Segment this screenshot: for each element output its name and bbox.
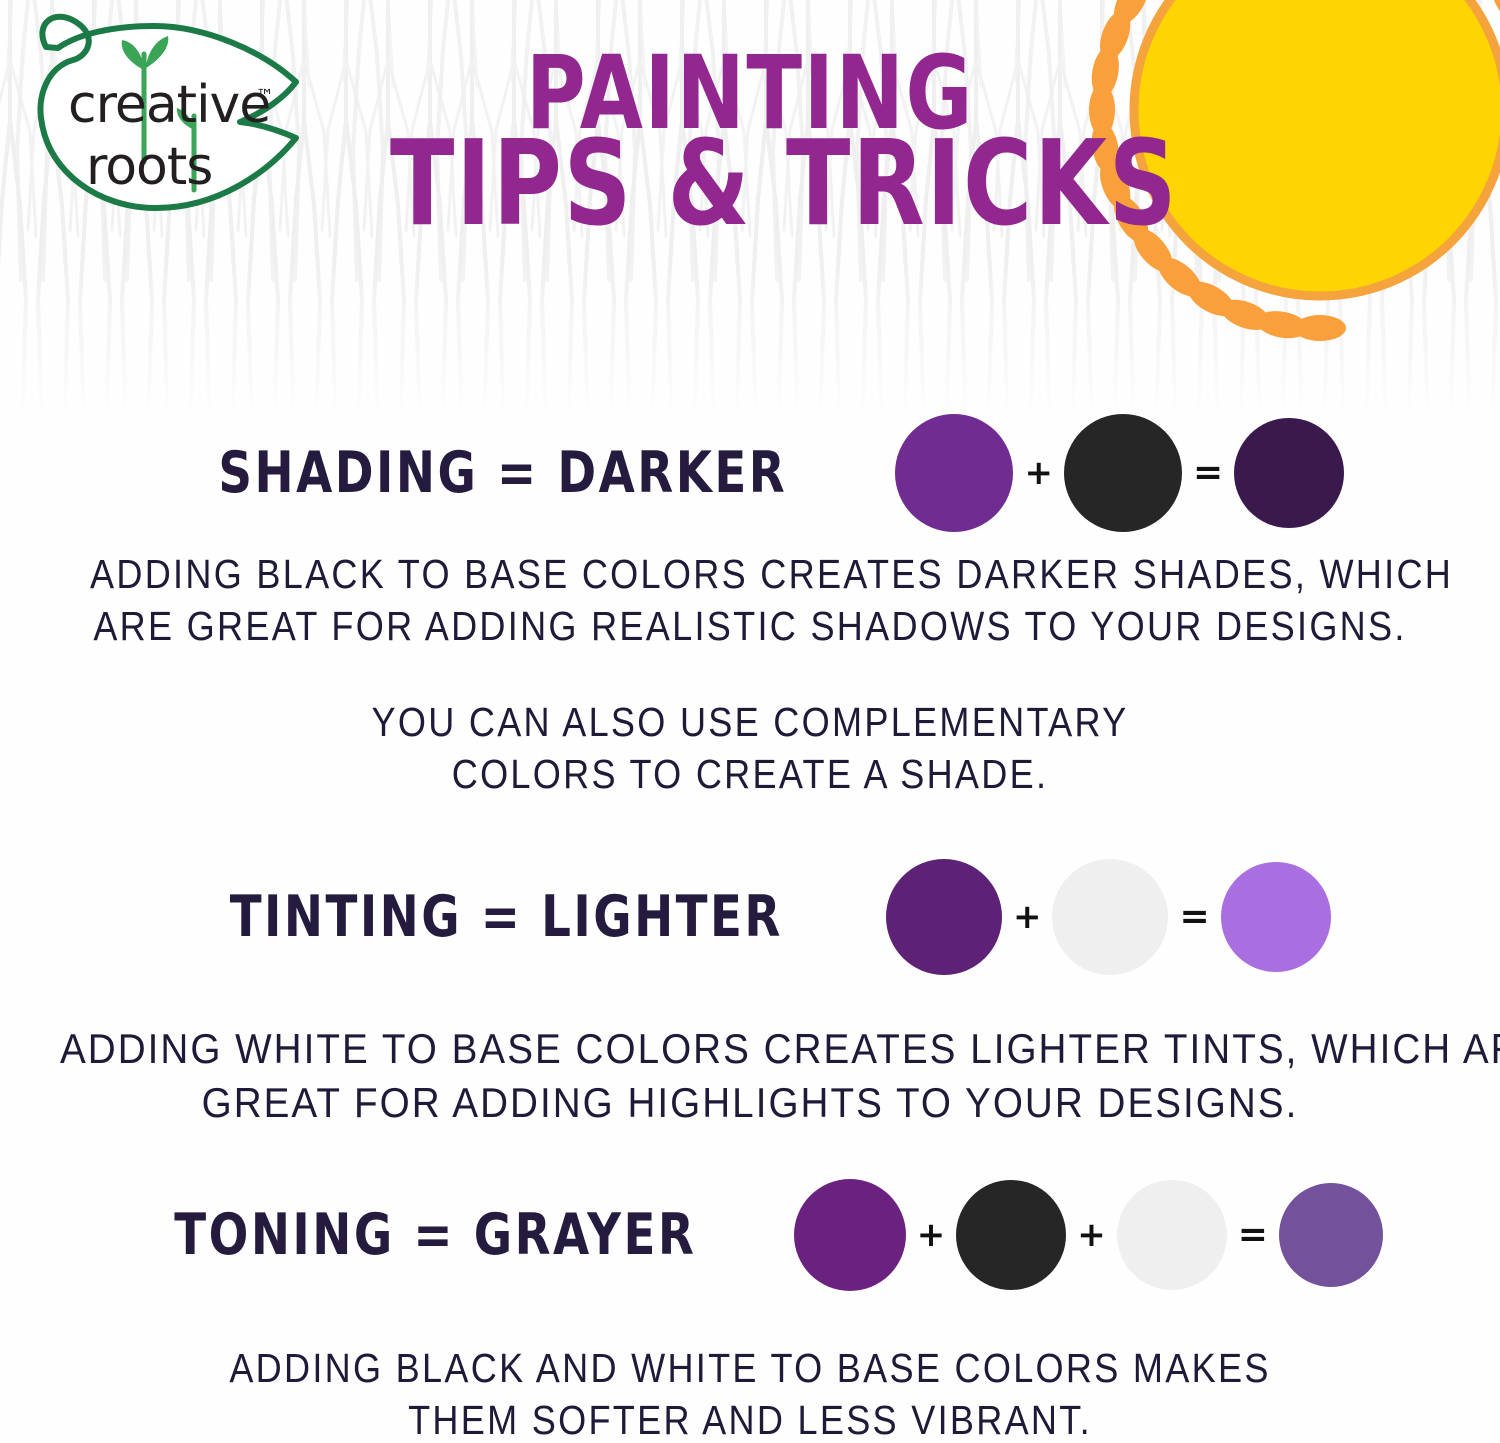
swatch-dark-purple-shade (1234, 418, 1344, 528)
plus-sign: + (1013, 900, 1042, 934)
plus-sign: + (917, 1218, 946, 1252)
paragraph-line: GREAT FOR ADDING HIGHLIGHTS TO YOUR DESI… (60, 1076, 1440, 1130)
swatch-row-tinting: + = (886, 859, 1331, 975)
section-toning-title: TONING = GRAYER (174, 1202, 696, 1268)
logo-wordmark-line1: creative (68, 75, 270, 135)
swatch-black (956, 1180, 1066, 1290)
swatch-white (1052, 859, 1168, 975)
title-line-tips-and-tricks: TIPS & TRICKS (390, 130, 1110, 236)
swatch-base-purple (886, 859, 1002, 975)
paragraph-line: ADDING BLACK TO BASE COLORS CREATES DARK… (90, 548, 1410, 600)
equals-sign: = (1238, 1217, 1268, 1253)
paragraph-toning: ADDING BLACK AND WHITE TO BASE COLORS MA… (90, 1342, 1410, 1443)
section-shading-title: SHADING = DARKER (218, 440, 787, 506)
paragraph-line: ARE GREAT FOR ADDING REALISTIC SHADOWS T… (90, 600, 1410, 652)
section-tinting-header: TINTING = LIGHTER + = (0, 862, 1500, 972)
paragraph-line: THEM SOFTER AND LESS VIBRANT. (90, 1394, 1410, 1443)
equals-sign: = (1179, 899, 1209, 935)
logo-wordmark-line2: roots (86, 137, 212, 197)
logo-trademark: ™ (256, 86, 274, 107)
plus-sign: + (1024, 456, 1053, 490)
swatch-base-purple (895, 414, 1013, 532)
paragraph-line: ADDING BLACK AND WHITE TO BASE COLORS MA… (90, 1342, 1410, 1394)
swatch-row-toning: + + = (794, 1179, 1383, 1291)
paragraph-shading-2: YOU CAN ALSO USE COMPLEMENTARY COLORS TO… (90, 696, 1410, 801)
equals-sign: = (1193, 455, 1223, 491)
swatch-black (1064, 414, 1182, 532)
paragraph-tinting: ADDING WHITE TO BASE COLORS CREATES LIGH… (60, 1022, 1440, 1130)
section-toning-header: TONING = GRAYER + + = (0, 1180, 1500, 1290)
swatch-white (1117, 1180, 1227, 1290)
swatch-gray-purple-tone (1279, 1183, 1383, 1287)
paragraph-line: YOU CAN ALSO USE COMPLEMENTARY (90, 696, 1410, 748)
paragraph-line: COLORS TO CREATE A SHADE. (90, 748, 1410, 800)
paragraph-line: ADDING WHITE TO BASE COLORS CREATES LIGH… (60, 1022, 1440, 1076)
swatch-row-shading: + = (895, 414, 1344, 532)
swatch-base-purple (794, 1179, 906, 1291)
painting-tips-infographic: creative roots ™ PAINTING TIPS & TRICKS … (0, 0, 1500, 1443)
paragraph-shading-1: ADDING BLACK TO BASE COLORS CREATES DARK… (90, 548, 1410, 653)
swatch-light-purple-tint (1221, 862, 1331, 972)
section-tinting-title: TINTING = LIGHTER (230, 884, 783, 950)
plus-sign: + (1077, 1218, 1106, 1252)
page-title: PAINTING TIPS & TRICKS (300, 48, 1200, 236)
section-shading-header: SHADING = DARKER + = (0, 418, 1500, 528)
creative-roots-logo: creative roots ™ (28, 12, 318, 227)
